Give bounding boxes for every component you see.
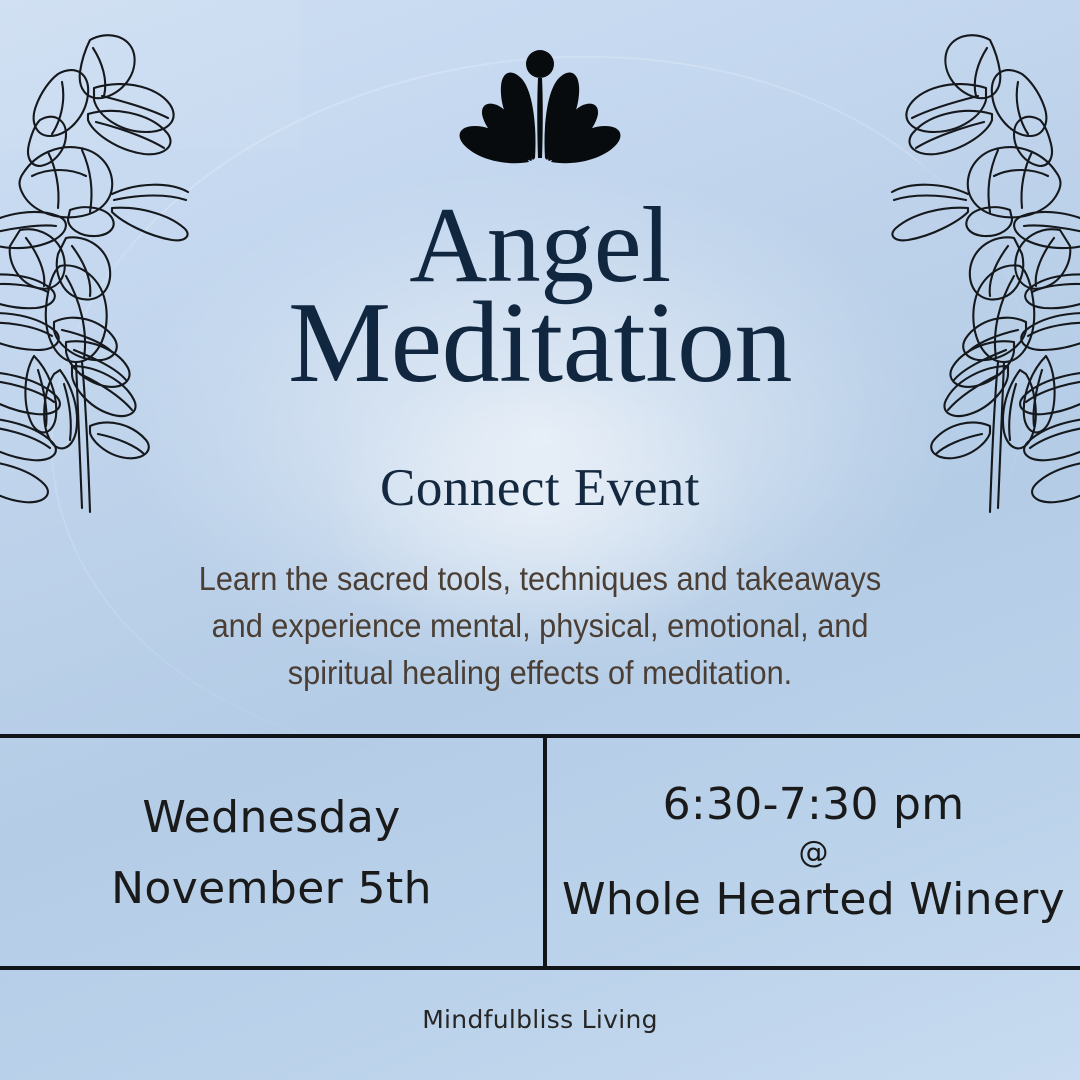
lotus-logo — [0, 48, 1080, 168]
lotus-head-circle — [526, 50, 554, 78]
event-description: Learn the sacred tools, techniques and t… — [159, 556, 922, 697]
description-line-2: and experience mental, physical, emotion… — [159, 603, 922, 650]
event-date: November 5th — [111, 853, 432, 924]
event-venue: Whole Hearted Winery — [562, 874, 1065, 927]
divider-bottom — [0, 966, 1080, 970]
at-separator: @ — [799, 834, 829, 872]
page-title: Angel Meditation — [0, 196, 1080, 398]
description-line-1: Learn the sacred tools, techniques and t… — [159, 556, 922, 603]
event-poster: Angel Meditation Connect Event Learn the… — [0, 0, 1080, 1080]
title-line-2: Meditation — [0, 290, 1080, 398]
description-line-3: spiritual healing effects of meditation. — [159, 650, 922, 697]
page-subtitle: Connect Event — [0, 458, 1080, 518]
brand-footer: Mindfulbliss Living — [0, 1005, 1080, 1034]
event-date-block: Wednesday November 5th — [0, 740, 543, 966]
divider-top — [0, 734, 1080, 738]
event-time-venue-block: 6:30-7:30 pm @ Whole Hearted Winery — [547, 740, 1080, 966]
event-day: Wednesday — [142, 782, 400, 853]
event-time: 6:30-7:30 pm — [663, 779, 965, 832]
